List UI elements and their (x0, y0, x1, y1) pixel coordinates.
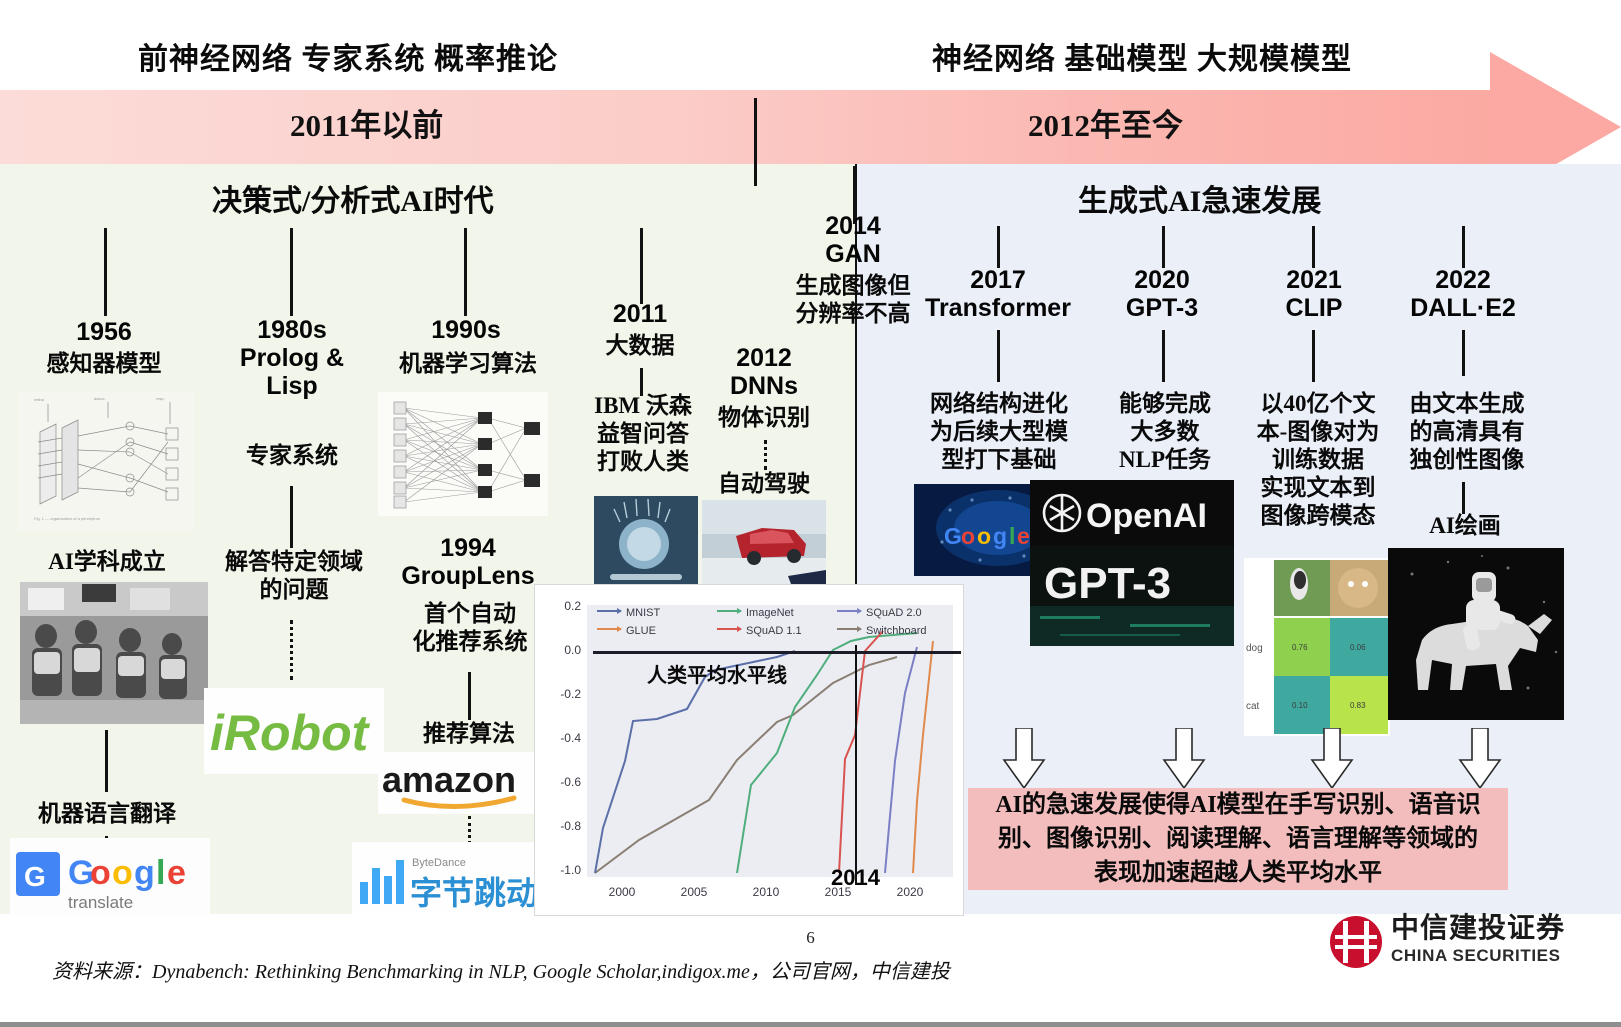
image-watson-photo (594, 496, 698, 592)
svg-text:resp.: resp. (156, 396, 165, 401)
milestone-2021: 2021 CLIP (1250, 266, 1378, 322)
logo-text-cn: 中信建投证券 (1391, 915, 1565, 943)
svg-text:o: o (90, 854, 111, 892)
human-average-label: 人类平均水平线 (647, 659, 787, 688)
image-bytedance-logo: ByteDance 字节跳动 (352, 842, 534, 914)
caption-2022-ai-painting: AI绘画 (1404, 512, 1526, 540)
stem-1956-translate (105, 730, 108, 792)
era-tags-right: 神经网络 基础模型 大规模模型 (932, 34, 1352, 78)
chart-ytick-5: -0.8 (535, 819, 581, 833)
caption-1994-rec-algorithm: 推荐算法 (398, 720, 540, 748)
bottom-rule (0, 1022, 1621, 1027)
milestone-1980s-year: 1980s (222, 316, 362, 344)
legend-item-imagenet: ImageNet (717, 607, 794, 619)
timeline-arrow: 2011年以前 2012年至今 (0, 90, 1621, 164)
milestone-2020: 2020 GPT-3 (1098, 266, 1226, 322)
slide-root: 前神经网络 专家系统 概率推论 神经网络 基础模型 大规模模型 2011年以前 … (0, 0, 1621, 1027)
legend-item-mnist: MNIST (597, 607, 660, 619)
stem-dotted-1980s (290, 620, 293, 680)
svg-text:o: o (977, 523, 991, 549)
svg-text:amazon: amazon (382, 759, 516, 800)
svg-text:0.10: 0.10 (1292, 701, 1308, 710)
chart-ytick-4: -0.6 (535, 775, 581, 789)
caption-1980s-expert-systems: 专家系统 (212, 442, 372, 470)
milestone-2022: 2022 DALL·E2 (1390, 266, 1536, 322)
source-note: 资料来源：Dynabench: Rethinking Benchmarking … (52, 955, 950, 984)
milestone-2014-year: 2014 (786, 212, 920, 240)
milestone-1994-name: GroupLens (388, 562, 548, 590)
stem-2022-lower (1462, 330, 1465, 376)
image-google-translate-logo: G Go og le translate (10, 838, 210, 916)
stem-1990s (464, 228, 467, 316)
svg-text:g: g (993, 523, 1007, 549)
china-securities-logo-icon (1330, 916, 1382, 968)
image-perceptron-diagram: retinaassoc.resp. Fig. 1 — organization … (18, 392, 194, 532)
company-logo: 中信建投证券 CHINA SECURITIES (1330, 915, 1565, 969)
stem-1980s-lower (290, 486, 293, 548)
svg-text:translate: translate (68, 893, 133, 912)
stem-2021 (1312, 226, 1315, 268)
stem-2020 (1162, 226, 1165, 268)
stem-1956 (104, 228, 107, 316)
benchmark-chart: MNIST ImageNet SQuAD 2.0 GLUE SQuAD 1.1 … (534, 584, 964, 916)
chart-legend: MNIST ImageNet SQuAD 2.0 GLUE SQuAD 1.1 … (597, 607, 949, 641)
stem-2011 (640, 228, 643, 304)
milestone-2012-name: DNNs (700, 372, 828, 400)
chart-xtick-2015: 2015 (811, 885, 865, 899)
chart-ytick-6: -1.0 (535, 863, 581, 877)
down-arrow-icon-3 (1310, 728, 1354, 790)
milestone-2021-year: 2021 (1250, 266, 1378, 294)
chart-ytick-3: -0.4 (535, 731, 581, 745)
milestone-1956-year: 1956 (34, 318, 174, 346)
milestone-2012: 2012 DNNs (700, 344, 828, 400)
svg-text:g: g (134, 854, 155, 892)
heading-analytical-ai: 决策式/分析式AI时代 (212, 176, 494, 220)
chart-2014-marker (855, 645, 857, 885)
chart-ytick-2: -0.2 (535, 687, 581, 701)
stem-1994-lower (468, 672, 471, 720)
chart-xtick-2010: 2010 (739, 885, 793, 899)
milestone-2011-year: 2011 (576, 300, 704, 328)
caption-2021-clip: 以40亿个文 本-图像对为 训练数据 实现文本到 图像跨模态 (1238, 390, 1398, 530)
milestone-1980s-name: Prolog & Lisp (222, 344, 362, 400)
image-irobot-logo: iRobot (204, 688, 384, 774)
milestone-2017: 2017 Transformer (912, 266, 1084, 322)
milestone-1990s: 1990s (396, 316, 536, 344)
conclusion-banner: AI的急速发展使得AI模型在手写识别、语音识 别、图像识别、阅读理解、语言理解等… (968, 788, 1508, 890)
caption-1980s-domain-problems: 解答特定领域 的问题 (206, 548, 382, 604)
chart-xtick-2020: 2020 (883, 885, 937, 899)
logo-text-en: CHINA SECURITIES (1391, 943, 1565, 969)
caption-2012-object-recognition: 物体识别 (698, 404, 830, 432)
stem-dotted-2012 (764, 440, 767, 470)
milestone-2012-year: 2012 (700, 344, 828, 372)
svg-text:ByteDance: ByteDance (412, 857, 466, 869)
chart-xtick-2005: 2005 (667, 885, 721, 899)
svg-text:GPT-3: GPT-3 (1044, 559, 1171, 608)
caption-2012-self-driving: 自动驾驶 (700, 470, 828, 498)
caption-2011-watson: IBM 沃森 益智问答 打败人类 (576, 392, 710, 476)
svg-text:字节跳动: 字节跳动 (410, 875, 534, 911)
legend-item-squad20: SQuAD 2.0 (837, 607, 922, 619)
heading-generative-ai: 生成式AI急速发展 (1078, 176, 1321, 220)
era-tags-left: 前神经网络 专家系统 概率推论 (138, 34, 558, 78)
arrow-body (0, 90, 1500, 164)
svg-text:l: l (1009, 523, 1015, 549)
svg-text:assoc.: assoc. (94, 396, 106, 401)
milestone-2020-year: 2020 (1098, 266, 1226, 294)
image-clip-matrix: dog cat 0.760.06 0.100.83 (1244, 558, 1390, 736)
stem-2017-lower (997, 330, 1000, 382)
image-neural-network-diagram (378, 392, 548, 516)
chart-ytick-0: 0.2 (535, 599, 581, 613)
image-dalle2-astronaut (1388, 548, 1564, 720)
caption-2017-transformer: 网络结构进化 为后续大型模 型打下基础 (906, 390, 1092, 474)
svg-text:iRobot: iRobot (210, 705, 371, 761)
svg-text:G: G (944, 523, 962, 549)
image-dartmouth-photo (20, 582, 208, 724)
milestone-2014-name: GAN (786, 240, 920, 268)
milestone-2017-year: 2017 (912, 266, 1084, 294)
svg-text:0.76: 0.76 (1292, 643, 1308, 652)
image-self-driving-photo (702, 500, 826, 592)
caption-1956-perceptron: 感知器模型 (14, 350, 194, 378)
caption-2020-gpt3: 能够完成 大多数 NLP任务 (1092, 390, 1238, 474)
band-title-left: 2011年以前 (290, 100, 443, 145)
caption-1994-first-recsys: 首个自动 化推荐系统 (382, 600, 558, 656)
legend-item-squad11: SQuAD 1.1 (717, 625, 802, 637)
era-divider-upper (754, 98, 757, 186)
svg-text:Fig. 1 — organization of a per: Fig. 1 — organization of a perceptron (34, 516, 100, 521)
image-openai-logo: OpenAI (1030, 480, 1234, 546)
band-title-right: 2012年至今 (1028, 100, 1183, 145)
milestone-2014: 2014 GAN (786, 212, 920, 268)
svg-text:o: o (112, 854, 133, 892)
milestone-1980s: 1980s Prolog & Lisp (222, 316, 362, 400)
stem-2017 (997, 226, 1000, 268)
svg-text:e: e (1017, 523, 1030, 549)
stem-2022-ai-art (1462, 482, 1465, 514)
svg-text:0.06: 0.06 (1350, 643, 1366, 652)
svg-text:e: e (167, 854, 186, 892)
down-arrow-icon-4 (1458, 728, 1502, 790)
svg-text:G: G (24, 861, 46, 892)
milestone-1956: 1956 (34, 318, 174, 346)
milestone-1994: 1994 GroupLens (388, 534, 548, 590)
chart-ytick-1: 0.0 (535, 643, 581, 657)
svg-text:l: l (156, 854, 165, 892)
stem-2021-lower (1312, 330, 1315, 382)
human-average-line (593, 651, 961, 654)
svg-text:0.83: 0.83 (1350, 701, 1366, 710)
era-tag-row: 前神经网络 专家系统 概率推论 神经网络 基础模型 大规模模型 (0, 34, 1621, 90)
caption-2011-big-data: 大数据 (580, 332, 700, 360)
milestone-2022-name: DALL·E2 (1390, 294, 1536, 322)
caption-1956-machine-translation: 机器语言翻译 (16, 800, 198, 828)
milestone-2011: 2011 (576, 300, 704, 328)
stem-2020-lower (1162, 330, 1165, 382)
svg-text:dog: dog (1246, 643, 1263, 654)
milestone-1994-year: 1994 (388, 534, 548, 562)
stem-1980s (290, 228, 293, 316)
down-arrow-icon-2 (1162, 728, 1206, 790)
svg-text:OpenAI: OpenAI (1086, 497, 1207, 535)
legend-item-switchboard: Switchboard (837, 625, 927, 637)
chart-xtick-2000: 2000 (595, 885, 649, 899)
milestone-2021-name: CLIP (1250, 294, 1378, 322)
legend-item-glue: GLUE (597, 625, 656, 637)
caption-1956-ai-founded: AI学科成立 (22, 548, 192, 576)
image-gpt3-logo: GPT-3 (1030, 546, 1234, 646)
milestone-2017-name: Transformer (912, 294, 1084, 322)
svg-text:o: o (961, 523, 975, 549)
chart-plot-area (587, 605, 953, 877)
image-amazon-logo: amazon (378, 752, 538, 814)
milestone-2020-name: GPT-3 (1098, 294, 1226, 322)
caption-1990s-ml-algorithms: 机器学习算法 (378, 350, 558, 378)
svg-text:retina: retina (34, 397, 45, 402)
down-arrow-icon-1 (1002, 728, 1046, 790)
svg-text:cat: cat (1246, 701, 1260, 712)
caption-2022-dalle2: 由文本生成 的高清具有 独创性图像 (1386, 390, 1548, 474)
stem-2022 (1462, 226, 1465, 268)
milestone-2022-year: 2022 (1390, 266, 1536, 294)
milestone-1990s-year: 1990s (396, 316, 536, 344)
